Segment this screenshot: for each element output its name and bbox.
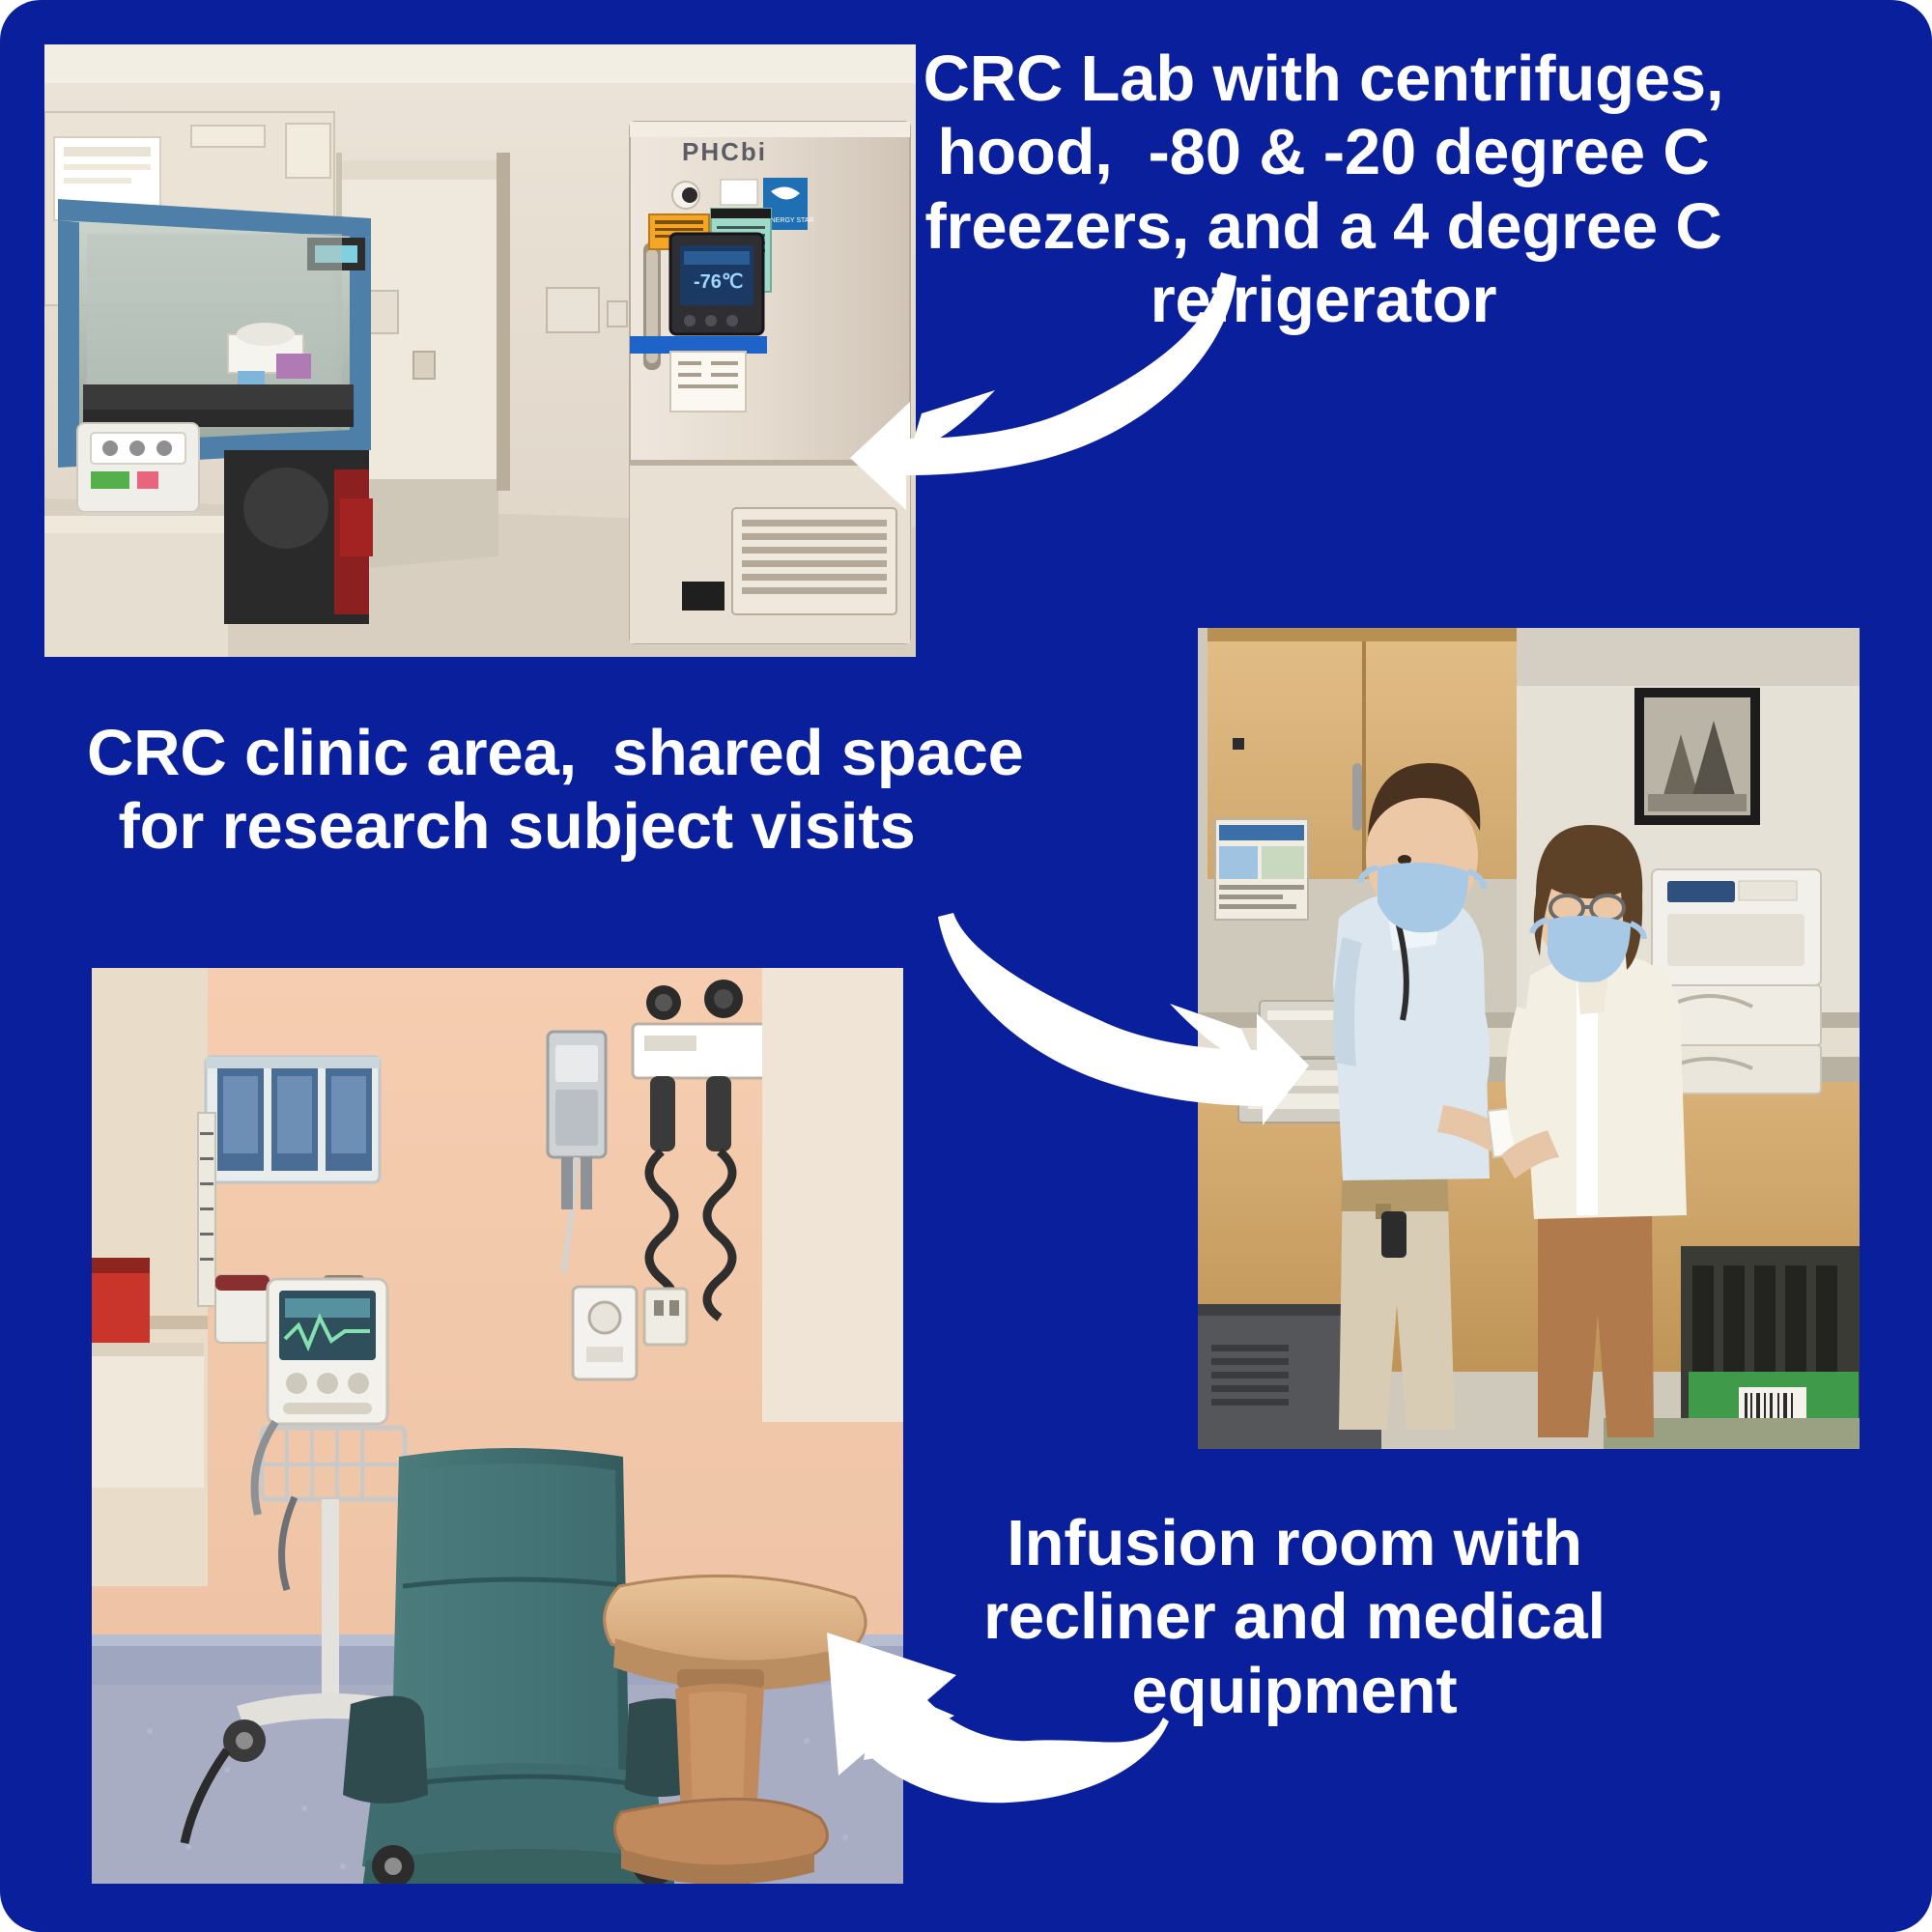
curved-left-arrow-icon	[850, 269, 1256, 510]
infusion-caption-line-1: Infusion room with	[966, 1507, 1623, 1580]
arrow-to-lab-photo-icon	[850, 269, 1256, 510]
curved-left-arrow-icon-2	[810, 1615, 1177, 1808]
infusion-room-photo	[92, 968, 903, 1884]
clinic-caption: CRC clinic area, shared space for resear…	[87, 717, 947, 865]
arrow-to-clinic-photo-icon	[923, 894, 1309, 1125]
svg-text:PHCbi: PHCbi	[682, 137, 767, 166]
lab-caption-line-2: hood, -80 & -20 degree C	[782, 116, 1864, 189]
poster-canvas: PHCbi ENERGY STAR	[0, 0, 1932, 1932]
svg-text:-76℃: -76℃	[694, 271, 743, 293]
lab-caption-line-1: CRC Lab with centrifuges,	[782, 43, 1864, 116]
infusion-room-photo-illustration	[92, 968, 903, 1884]
lab-caption-line-3: freezers, and a 4 degree C	[782, 190, 1864, 264]
clinic-caption-line-2: for research subject visits	[87, 790, 947, 864]
curved-right-arrow-icon	[923, 894, 1309, 1125]
clinic-caption-line-1: CRC clinic area, shared space	[87, 717, 947, 790]
arrow-to-infusion-photo-icon	[810, 1615, 1177, 1808]
